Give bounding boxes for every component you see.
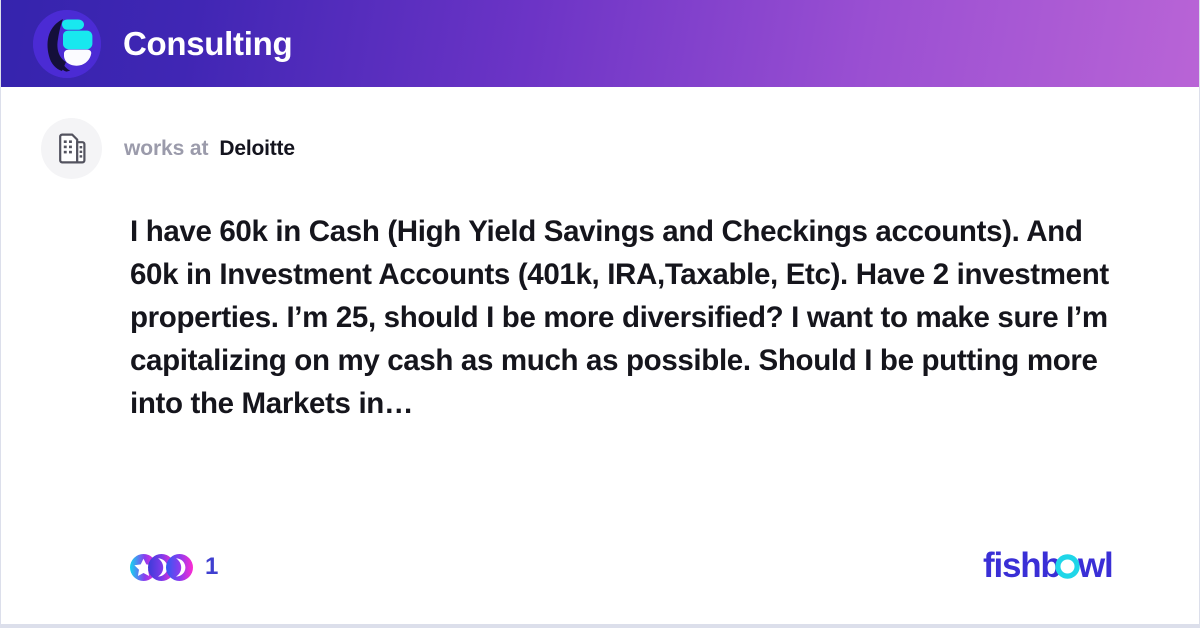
post-footer: 1 fishb wl — [1, 546, 1199, 588]
post-author-meta: works at Deloitte — [1, 118, 1199, 179]
reaction-icon-stack[interactable] — [130, 554, 193, 581]
svg-text:fishb: fishb — [983, 546, 1061, 585]
post-body: works at Deloitte I have 60k in Cash (Hi… — [1, 87, 1199, 624]
post-header: Consulting — [1, 0, 1199, 87]
author-affiliation: works at Deloitte — [124, 137, 295, 161]
post-text[interactable]: I have 60k in Cash (High Yield Savings a… — [1, 210, 1176, 425]
fishbowl-wordmark: fishb wl — [983, 545, 1125, 589]
reaction-count: 1 — [205, 553, 218, 581]
company-building-icon — [55, 132, 89, 166]
svg-text:wl: wl — [1077, 546, 1113, 585]
fishbowl-logo-icon — [33, 10, 101, 78]
reactions-group[interactable]: 1 — [130, 553, 218, 581]
page-title: Consulting — [123, 27, 292, 60]
works-at-label: works at — [124, 137, 208, 161]
fishbowl-post-card: Consulting — [0, 0, 1200, 628]
moon-reaction-icon[interactable] — [166, 554, 193, 581]
avatar — [41, 118, 102, 179]
company-name[interactable]: Deloitte — [219, 137, 294, 161]
